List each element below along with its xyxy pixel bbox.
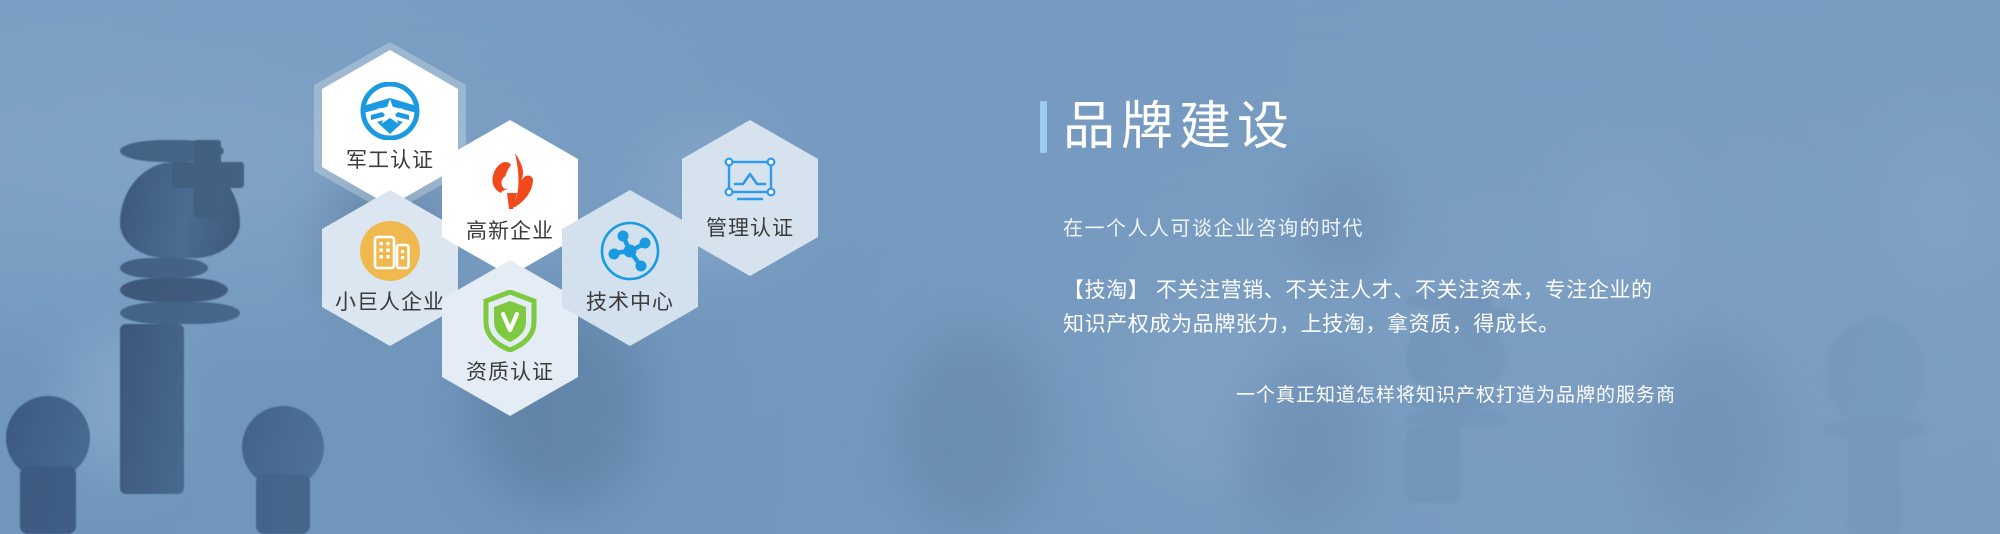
banner-title-row: 品牌建设: [1040, 66, 1680, 188]
certification-hexagon-cluster: 军工认证 小巨人企业: [300, 24, 1000, 414]
page-title: 品牌建设: [1063, 101, 1295, 153]
hexagon-label: 管理认证: [706, 212, 794, 242]
buildings-circle-icon: [359, 220, 421, 282]
hexagon-little-giant-enterprise[interactable]: 小巨人企业: [322, 190, 458, 346]
hexagon-label: 技术中心: [586, 286, 674, 316]
hexagon-label: 军工认证: [346, 144, 434, 174]
shield-check-v-icon: [482, 290, 538, 352]
hexagon-label: 高新企业: [466, 215, 554, 245]
banner-copy-block: 品牌建设 在一个人人可谈企业咨询的时代 【技淘】 不关注营销、不关注人才、不关注…: [1040, 66, 1680, 407]
banner-tagline: 一个真正知道怎样将知识产权打造为品牌的服务商: [1040, 380, 1680, 407]
flame-torch-icon: [481, 151, 539, 211]
military-shield-star-icon: [359, 82, 421, 140]
hexagon-label: 资质认证: [466, 356, 554, 386]
title-accent-bar: [1040, 101, 1047, 153]
brand-building-banner: 军工认证 小巨人企业: [0, 0, 2000, 534]
chart-frame-icon: [719, 154, 781, 208]
molecule-network-icon: [599, 220, 661, 282]
hexagon-qualification-certification[interactable]: 资质认证: [442, 260, 578, 416]
hexagon-technology-center[interactable]: 技术中心: [562, 190, 698, 346]
banner-subtitle: 在一个人人可谈企业咨询的时代: [1063, 212, 1680, 241]
hexagon-management-certification[interactable]: 管理认证: [682, 120, 818, 276]
banner-body-text: 【技淘】 不关注营销、不关注人才、不关注资本，专注企业的知识产权成为品牌张力，上…: [1063, 274, 1673, 342]
hexagon-label: 小巨人企业: [335, 286, 445, 316]
